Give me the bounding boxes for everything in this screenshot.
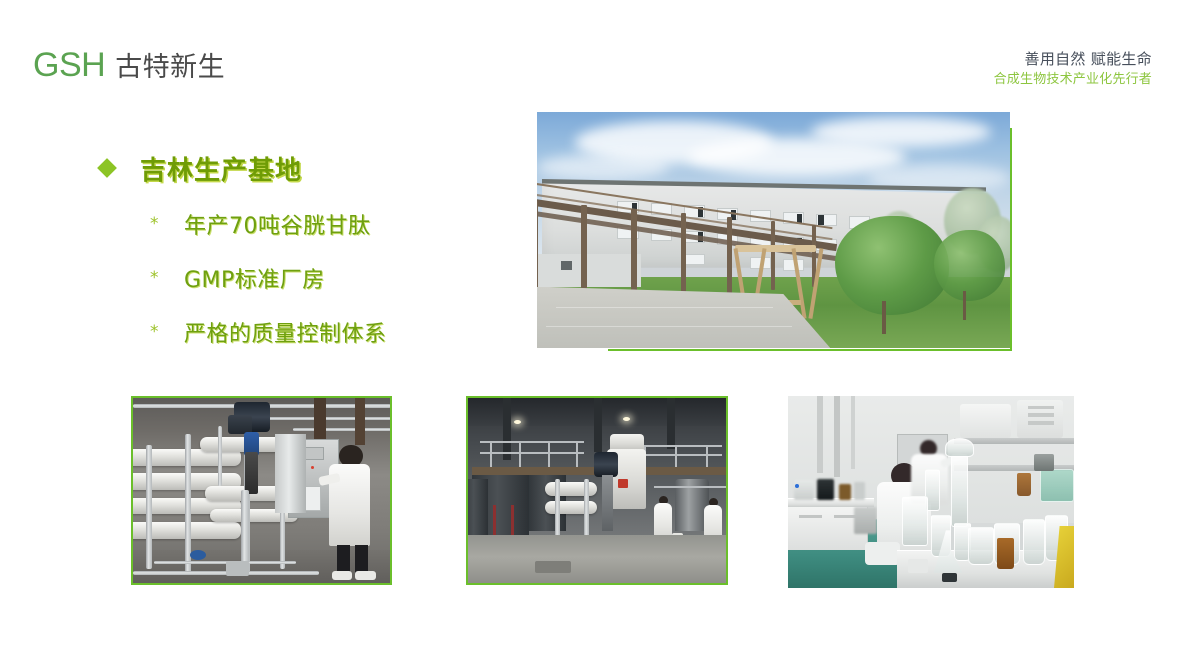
green-carboy xyxy=(1040,469,1074,502)
list-item-label: 严格的质量控制体系 xyxy=(184,316,387,348)
pump-stage-column xyxy=(245,452,258,493)
list-item: * 年产70吨谷胱甘肽 xyxy=(100,208,520,240)
railing-post xyxy=(490,441,492,467)
diamond-bullet-icon xyxy=(97,158,117,178)
pump-junction-box xyxy=(228,415,251,434)
pavement-joint xyxy=(556,307,774,308)
railing-post xyxy=(548,441,550,467)
beaker xyxy=(968,527,994,565)
gallery-photo-qc-laboratory xyxy=(788,396,1074,588)
bullet-list: 吉林生产基地 * 年产70吨谷胱甘肽 * GMP标准厂房 * 严格的质量控制体系 xyxy=(100,150,520,348)
accent-frame-line-p1-left xyxy=(131,396,133,584)
brand-logo: GSH 古特新生 xyxy=(33,48,225,82)
list-item-label: GMP标准厂房 xyxy=(184,262,325,294)
floor-drain xyxy=(535,561,571,572)
operator-shoe xyxy=(355,571,376,580)
railing-post xyxy=(706,445,708,469)
shelf-vent-slot xyxy=(1028,406,1054,410)
gallery-photo-water-treatment xyxy=(133,396,391,584)
asterisk-bullet-icon: * xyxy=(150,216,164,233)
workshop-floor xyxy=(467,535,727,584)
asterisk-bullet-icon: * xyxy=(150,324,164,341)
floor-pipe xyxy=(154,561,296,564)
accent-frame-line-p1-top xyxy=(131,396,392,398)
pump-riser xyxy=(241,490,249,569)
ro-membrane-vessel xyxy=(545,501,597,514)
stainless-pipe xyxy=(185,434,191,573)
shelf-apparatus xyxy=(1034,454,1054,471)
swing-canopy xyxy=(735,245,816,252)
accent-frame-line-bottom xyxy=(608,349,1012,351)
mezzanine-deck xyxy=(472,467,597,475)
bullet-heading-row: 吉林生产基地 xyxy=(100,150,520,186)
operator-shoe xyxy=(332,571,353,580)
bench-small-item xyxy=(908,559,928,572)
reagent-bottle xyxy=(839,484,850,499)
column-condenser-head xyxy=(945,438,974,457)
logo-company-name: 古特新生 xyxy=(115,54,225,81)
accent-frame-line-p2-bottom xyxy=(466,583,728,585)
railing-post xyxy=(519,441,521,467)
overhead-pipe xyxy=(293,428,391,431)
pipe-flange xyxy=(226,561,249,576)
glass-vessel xyxy=(902,496,928,546)
list-item: * 严格的质量控制体系 xyxy=(100,316,520,348)
hero-photo-production-base xyxy=(537,112,1010,348)
asterisk-bullet-icon: * xyxy=(150,270,164,287)
shelf-vent-slot xyxy=(1028,421,1054,425)
lab-stool xyxy=(865,542,899,565)
shelf-vent-slot xyxy=(1028,413,1054,417)
slide-canvas: GSH 古特新生 善用自然 赋能生命 合成生物技术产业化先行者 吉林生产基地 *… xyxy=(0,0,1204,672)
ro-membrane-vessel xyxy=(545,482,597,495)
gallery-photo-production-workshop xyxy=(467,396,727,584)
lab-instrument xyxy=(854,482,865,499)
structural-column xyxy=(503,396,511,460)
indicator-led-red xyxy=(311,466,314,469)
foreground-tree xyxy=(835,216,949,315)
stainless-pipe xyxy=(146,445,152,569)
stainless-pipe xyxy=(218,426,222,486)
mezzanine-railing xyxy=(480,452,584,454)
distillation-column xyxy=(951,454,968,527)
structural-column xyxy=(667,396,675,449)
shelf-instrument xyxy=(960,404,1011,439)
beaker xyxy=(1023,519,1046,565)
list-item-label: 年产70吨谷胱甘肽 xyxy=(184,208,371,240)
header-tagline: 善用自然 赋能生命 合成生物技术产业化先行者 xyxy=(994,50,1152,89)
cloud xyxy=(811,117,991,148)
wall-conduit xyxy=(851,396,856,469)
pergola-post xyxy=(681,213,686,295)
structural-column xyxy=(355,396,365,445)
accent-frame-line-p1-bottom xyxy=(131,583,392,585)
tree-trunk xyxy=(882,301,886,334)
railing-post xyxy=(675,445,677,469)
tree-trunk xyxy=(963,291,966,319)
agitator-shaft xyxy=(602,475,612,531)
page-title: 吉林生产基地 xyxy=(140,150,302,187)
list-item: * GMP标准厂房 xyxy=(100,262,520,294)
amber-reagent-bottle xyxy=(997,538,1014,569)
pavement-joint xyxy=(546,326,792,327)
tagline-secondary: 合成生物技术产业化先行者 xyxy=(994,72,1152,89)
accent-frame-line-p1-right xyxy=(390,396,392,584)
blue-valve-handle xyxy=(190,550,206,560)
lab-instrument-dark xyxy=(817,479,834,500)
wall-conduit xyxy=(834,396,840,477)
swing-leg xyxy=(808,248,823,318)
mezzanine-railing xyxy=(480,441,584,443)
railing-post xyxy=(576,441,578,467)
process-tank xyxy=(467,479,488,535)
amber-reagent-bottle xyxy=(1017,473,1031,496)
ceiling-lamp xyxy=(623,417,630,421)
stainless-tank xyxy=(275,434,306,513)
wall-conduit xyxy=(817,396,823,473)
red-valve xyxy=(618,479,628,488)
accent-frame-line-right xyxy=(1010,128,1012,350)
accent-frame-line-p2-right xyxy=(726,396,728,584)
logo-mark-text: GSH xyxy=(33,48,105,82)
waste-bin xyxy=(854,507,877,534)
workshop-floor xyxy=(133,550,391,584)
cabinet-handle xyxy=(799,515,822,518)
bench-small-item xyxy=(942,573,956,583)
accent-frame-line-p2-top xyxy=(466,396,728,398)
agitator-motor xyxy=(594,452,617,476)
tagline-primary: 善用自然 赋能生命 xyxy=(994,50,1152,69)
accent-frame-line-p2-left xyxy=(466,396,468,584)
platform-rail xyxy=(654,486,727,488)
structural-column xyxy=(594,396,602,452)
foreground-tree xyxy=(934,230,1005,301)
pergola-post xyxy=(631,209,637,299)
